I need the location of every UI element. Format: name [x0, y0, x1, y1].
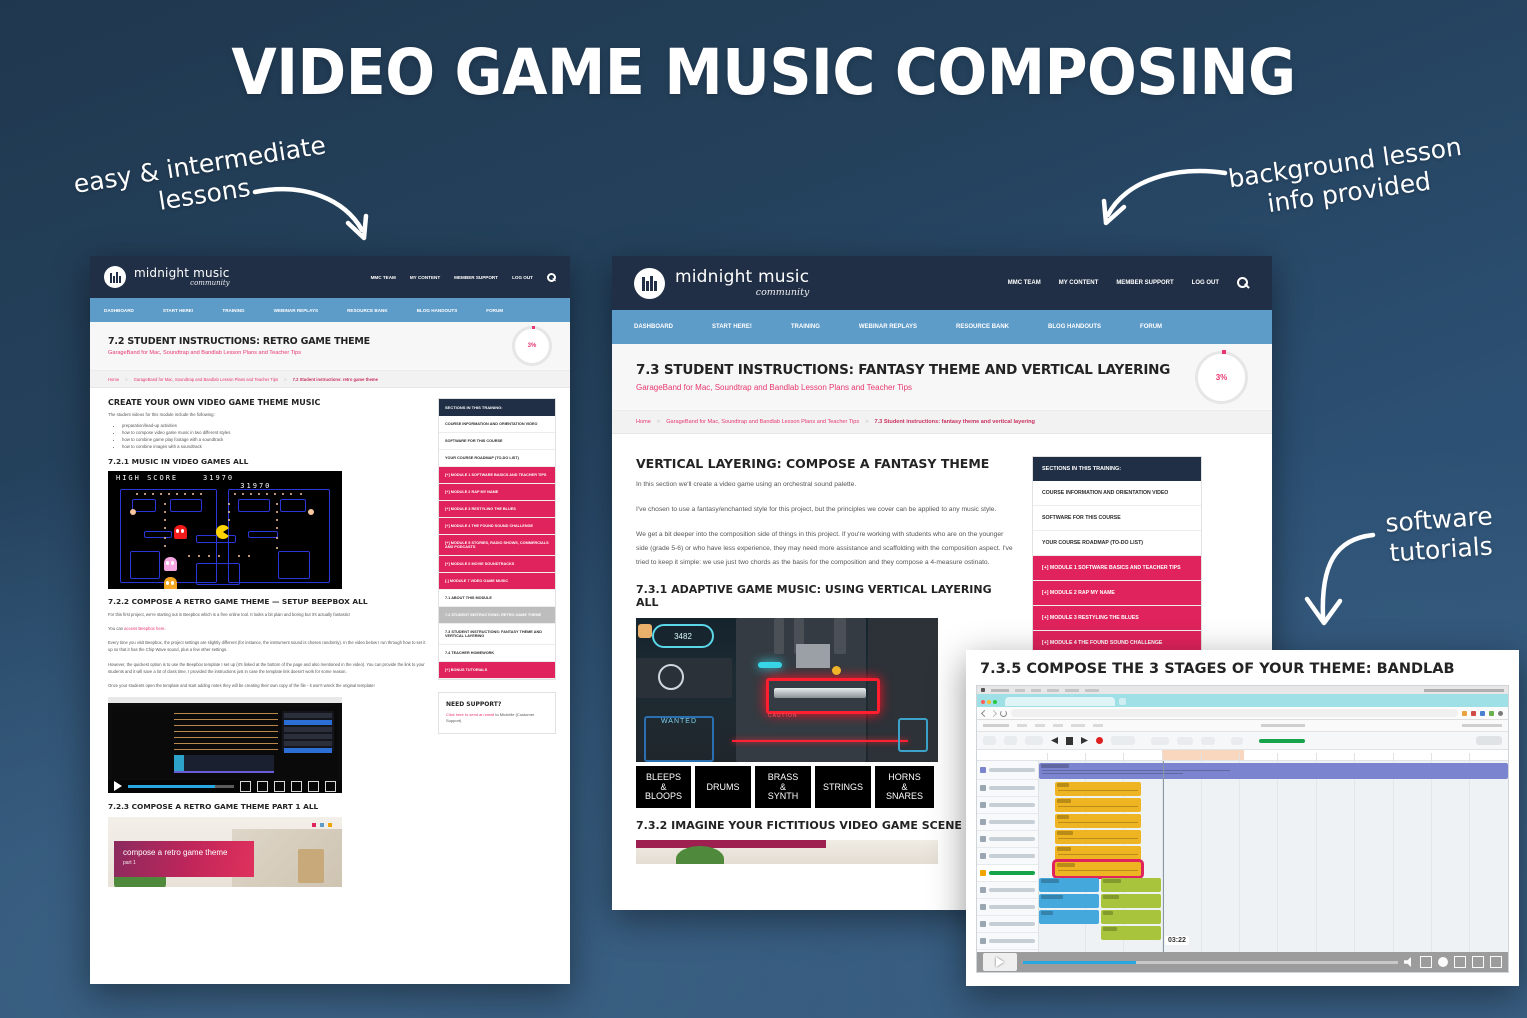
- search-icon[interactable]: [547, 273, 556, 282]
- os-menu-edit: [1031, 689, 1041, 692]
- left-para-2-post: .: [164, 626, 165, 631]
- left-para-5: Once your students open the template and…: [108, 682, 426, 689]
- arrow-background-info-icon: [1090, 163, 1230, 243]
- pacman-screenshot-image: HIGH SCORE 31970 31970: [108, 471, 342, 589]
- os-menu-file: [1015, 689, 1025, 692]
- settings-icon[interactable]: [274, 781, 285, 792]
- back-icon[interactable]: [981, 709, 988, 716]
- topnav-item-log-out[interactable]: LOG OUT: [1192, 280, 1219, 286]
- video-scrubber[interactable]: [128, 785, 234, 788]
- sidebar-item-module-1[interactable]: [+] MODULE 1 SOFTWARE BASICS AND TEACHER…: [439, 467, 555, 484]
- instrument-label-row: BLEEPS & BLOOPS DRUMS BRASS & SYNTH STRI…: [636, 766, 938, 808]
- game-grate-icon: [796, 644, 830, 668]
- menu-edit[interactable]: [1035, 724, 1045, 727]
- beepbox-editor-area: [112, 707, 338, 779]
- master-meter: [1259, 739, 1305, 743]
- skip-back-icon[interactable]: [1051, 737, 1058, 744]
- menu-help[interactable]: [1093, 724, 1103, 727]
- clip-blue-2[interactable]: [1039, 894, 1099, 908]
- pip-icon[interactable]: [308, 781, 319, 792]
- transport-bar[interactable]: [977, 732, 1508, 750]
- timeline-ruler[interactable]: [977, 750, 1508, 761]
- volume-icon[interactable]: [1404, 957, 1414, 967]
- logo-name: midnight music: [675, 269, 809, 286]
- left-intro-text: The student videos for this module inclu…: [108, 412, 426, 417]
- top-nav-right: MMC TEAM MY CONTENT MEMBER SUPPORT LOG O…: [1008, 277, 1250, 290]
- track-header-list[interactable]: [977, 761, 1039, 959]
- game-avatar-icon: [638, 624, 652, 638]
- clip-yellow-1[interactable]: [1055, 782, 1141, 796]
- project-name-field[interactable]: [1261, 724, 1305, 727]
- forward-icon[interactable]: [990, 709, 997, 716]
- sidebar-item-module-7[interactable]: [-] MODULE 7 VIDEO GAME MUSIC: [439, 573, 555, 590]
- site-header-right: midnight music community MMC TEAM MY CON…: [612, 256, 1272, 310]
- progress-percent-right: 3%: [1216, 373, 1228, 382]
- pacman-maze: [108, 485, 342, 589]
- nav-item-training[interactable]: TRAINING: [791, 324, 820, 330]
- settings-icon[interactable]: [1438, 957, 1448, 967]
- left-para-4: However, the quickest option is to use t…: [108, 661, 426, 675]
- browser-tab-bandlab[interactable]: [1005, 697, 1115, 706]
- track-row[interactable]: [977, 761, 1038, 780]
- fullscreen-icon[interactable]: [325, 781, 336, 792]
- tempo-field[interactable]: [1151, 737, 1169, 745]
- sidebar-item-module-3[interactable]: [+] MODULE 3 RESTYLING THE BLUES: [1033, 606, 1201, 631]
- nav-item-dashboard[interactable]: DASHBOARD: [104, 308, 134, 313]
- nav-item-start-here[interactable]: START HERE!: [163, 308, 194, 313]
- progress-percent-left: 3%: [528, 343, 537, 349]
- clip-blue-1[interactable]: [1039, 878, 1099, 892]
- logo-mark-icon: [104, 266, 126, 288]
- os-menu-history: [1065, 689, 1079, 692]
- ghost-orange-icon: [164, 577, 177, 589]
- clip-green-1[interactable]: [1101, 878, 1161, 892]
- game-wanted-label: WANTED: [661, 718, 697, 725]
- play-icon[interactable]: [1081, 737, 1088, 744]
- right-heading-vertical-layering: VERTICAL LAYERING: COMPOSE A FANTASY THE…: [636, 456, 1014, 471]
- pacman-score-1: 31970: [203, 474, 234, 482]
- apple-menu-icon[interactable]: [981, 688, 985, 692]
- url-field[interactable]: [1011, 709, 1458, 717]
- need-support-box: NEED SUPPORT? Click here to send an emai…: [438, 692, 556, 734]
- topnav-item-mmc-team[interactable]: MMC TEAM: [371, 275, 396, 280]
- menu-view[interactable]: [1053, 724, 1063, 727]
- left-para-2-pre: You can: [108, 626, 124, 631]
- sidebar-item-software[interactable]: SOFTWARE FOR THIS COURSE: [1033, 506, 1201, 531]
- sections-heading-left: SECTIONS IN THIS TRAINING:: [439, 399, 555, 416]
- sidebar-item-7-4[interactable]: 7.4 TEACHER HOMEWORK: [439, 645, 555, 662]
- redo-button[interactable]: [1004, 736, 1017, 745]
- lesson-title-right: 7.3 STUDENT INSTRUCTIONS: FANTASY THEME …: [636, 362, 1170, 378]
- search-icon[interactable]: [1237, 277, 1250, 290]
- ghost-red-icon: [174, 525, 187, 539]
- sections-heading-right: SECTIONS IN THIS TRAINING:: [1033, 457, 1201, 481]
- fullscreen-icon[interactable]: [1490, 956, 1502, 968]
- reload-icon[interactable]: [1000, 710, 1007, 717]
- annotation-software-tutorials: software tutorials: [1358, 499, 1522, 569]
- sidebar-item-module-2[interactable]: [+] MODULE 2 RAP MY NAME: [1033, 581, 1201, 606]
- left-para-2: You can access Beepbox here.: [108, 625, 426, 632]
- topnav-item-member-support[interactable]: MEMBER SUPPORT: [1116, 280, 1173, 286]
- right-heading-731: 7.3.1 ADAPTIVE GAME MUSIC: USING VERTICA…: [636, 583, 1014, 609]
- captions-icon[interactable]: [1420, 956, 1432, 968]
- lesson-main-left: CREATE YOUR OWN VIDEO GAME THEME MUSIC T…: [108, 398, 426, 887]
- top-nav-left: MMC TEAM MY CONTENT MEMBER SUPPORT LOG O…: [371, 273, 556, 282]
- support-text: Click here to send an email to Michelle …: [446, 712, 548, 725]
- logo-wordmark: midnight music community: [675, 269, 809, 298]
- site-header-left: midnight music community MMC TEAM MY CON…: [90, 256, 570, 298]
- sidebar-item-bonus[interactable]: [+] BONUS TUTORIALS: [439, 662, 555, 679]
- video-scrubber[interactable]: [1023, 961, 1398, 964]
- slide-canvas: VIDEO GAME MUSIC COMPOSING easy & interm…: [0, 0, 1527, 1018]
- track-row[interactable]: [977, 831, 1038, 848]
- thumbnail-dots: [312, 823, 332, 827]
- time-display[interactable]: [1111, 736, 1135, 745]
- lesson-main-right: VERTICAL LAYERING: COMPOSE A FANTASY THE…: [636, 456, 1014, 864]
- record-icon[interactable]: [1096, 737, 1103, 744]
- topnav-item-my-content[interactable]: MY CONTENT: [1059, 280, 1099, 286]
- arrangement-area[interactable]: 03:22: [977, 761, 1508, 959]
- lesson-sidebar-left: SECTIONS IN THIS TRAINING: COURSE INFORM…: [438, 398, 556, 887]
- beepbox-video-player[interactable]: [108, 697, 342, 793]
- game-hud-value: 3482: [674, 632, 692, 641]
- clip-yellow-selected[interactable]: [1055, 862, 1141, 876]
- logo-subtitle: community: [134, 280, 230, 287]
- quality-icon[interactable]: [1454, 956, 1466, 968]
- lesson-subtitle-left: GarageBand for Mac, Soundtrap and Bandla…: [108, 350, 370, 356]
- nav-item-training[interactable]: TRAINING: [222, 308, 244, 313]
- track-row-selected[interactable]: [977, 865, 1038, 882]
- lesson-titlebar-left: 7.2 STUDENT INSTRUCTIONS: RETRO GAME THE…: [90, 322, 570, 371]
- list-item: how to combine images with a soundtrack: [122, 444, 426, 449]
- breadcrumb-sep-icon: >: [657, 419, 660, 425]
- video-player-controls[interactable]: [977, 952, 1508, 972]
- screenshot-bandlab-tutorial[interactable]: 7.3.5 COMPOSE THE 3 STAGES OF YOUR THEME…: [966, 650, 1519, 986]
- sidebar-item-module-1[interactable]: [+] MODULE 1 SOFTWARE BASICS AND TEACHER…: [1033, 556, 1201, 581]
- clip-green-3[interactable]: [1101, 910, 1161, 924]
- nav-item-webinar-replays[interactable]: WEBINAR REPLAYS: [859, 324, 917, 330]
- sidebar-item-module-2[interactable]: [+] MODULE 2 RAP MY NAME: [439, 484, 555, 501]
- progress-ring-right: 3%: [1195, 351, 1248, 404]
- extension-icon[interactable]: [1480, 711, 1485, 716]
- right-lower-media-placeholder: [636, 840, 938, 864]
- breadcrumb-sep-icon: >: [125, 377, 127, 382]
- list-item: how to combine game play footage with a …: [122, 437, 426, 442]
- track-row[interactable]: [977, 780, 1038, 797]
- clip-yellow-2[interactable]: [1055, 798, 1141, 812]
- save-status: [1462, 724, 1502, 727]
- list-item: preparation/lead-up activities: [122, 423, 426, 428]
- bandlab-menu-bar[interactable]: [977, 720, 1508, 732]
- nav-item-webinar-replays[interactable]: WEBINAR REPLAYS: [274, 308, 319, 313]
- beepbox-settings-panel: [282, 711, 334, 751]
- left-heading-723: 7.2.3 COMPOSE A RETRO GAME THEME PART 1 …: [108, 802, 426, 811]
- breadcrumb-current-right: 7.3 Student instructions: fantasy theme …: [875, 419, 1035, 425]
- annotation-background-info: background lesson info provided: [1209, 129, 1485, 225]
- breadcrumb-sep-icon: >: [284, 377, 286, 382]
- main-nav-left: DASHBOARD START HERE! TRAINING WEBINAR R…: [90, 298, 570, 322]
- thumbnail-part: part 1: [123, 860, 245, 866]
- lesson-title-left: 7.2 STUDENT INSTRUCTIONS: RETRO GAME THE…: [108, 336, 370, 347]
- bandlab-logo[interactable]: [983, 724, 1009, 727]
- sidebar-item-7-2-active[interactable]: 7.2 STUDENT INSTRUCTIONS: RETRO GAME THE…: [439, 607, 555, 624]
- site-logo-right[interactable]: midnight music community: [634, 268, 809, 299]
- sidebar-item-roadmap[interactable]: YOUR COURSE ROADMAP (TO-DO LIST): [439, 450, 555, 467]
- topnav-item-my-content[interactable]: MY CONTENT: [410, 275, 440, 280]
- instrument-label-strings: STRINGS: [815, 766, 871, 808]
- game-hud-score: 3482: [652, 624, 714, 648]
- clip-yellow-3[interactable]: [1055, 814, 1141, 828]
- breadcrumb-parent-left[interactable]: GarageBand for Mac, Soundtrap and Bandla…: [134, 377, 279, 382]
- support-email-link[interactable]: Click here to send an email: [446, 712, 494, 717]
- left-heading-722: 7.2.2 COMPOSE A RETRO GAME THEME — SETUP…: [108, 597, 426, 606]
- site-logo-left[interactable]: midnight music community: [104, 266, 230, 288]
- lesson-subtitle-right: GarageBand for Mac, Soundtrap and Bandla…: [636, 383, 1170, 392]
- instrument-label-brass: BRASS & SYNTH: [755, 766, 811, 808]
- game-panel-icon: [898, 718, 928, 752]
- video-controls-bar[interactable]: [108, 780, 342, 793]
- left-para-1: For this first project, we're starting o…: [108, 611, 426, 618]
- track-row[interactable]: [977, 797, 1038, 814]
- right-para-1: In this section we'll create a video gam…: [636, 478, 1014, 492]
- track-row[interactable]: [977, 814, 1038, 831]
- left-para-3: Every time you visit Beepbox, the projec…: [108, 639, 426, 653]
- video-game-scene-image: 3482 CAUTION WANTED: [636, 618, 938, 762]
- game-caution-label: CAUTION: [768, 713, 798, 719]
- pacman-high-score-label: HIGH SCORE: [116, 474, 178, 482]
- left-bullet-list: preparation/lead-up activities how to co…: [108, 423, 426, 449]
- annotation-easy-lessons: easy & intermediate lessons: [59, 128, 345, 230]
- os-menu-bookmarks: [1085, 689, 1099, 692]
- os-menu-chrome: [991, 689, 1009, 692]
- video-time-tooltip: 03:22: [1165, 936, 1189, 945]
- nav-item-forum[interactable]: FORUM: [486, 308, 503, 313]
- screenshot-left-lesson-page[interactable]: midnight music community MMC TEAM MY CON…: [90, 256, 570, 984]
- topnav-item-mmc-team[interactable]: MMC TEAM: [1008, 280, 1041, 286]
- logo-subtitle: community: [675, 288, 809, 298]
- new-tab-icon[interactable]: [1119, 698, 1126, 705]
- menu-file[interactable]: [1017, 724, 1027, 727]
- clip-green-2[interactable]: [1101, 894, 1161, 908]
- breadcrumb-home-right[interactable]: Home: [636, 419, 651, 425]
- breadcrumb-left: Home > GarageBand for Mac, Soundtrap and…: [90, 371, 570, 388]
- clip-yellow-4[interactable]: [1055, 830, 1141, 844]
- clip-blue-3[interactable]: [1039, 910, 1099, 924]
- pip-icon[interactable]: [1472, 956, 1484, 968]
- extension-icon[interactable]: [1462, 711, 1467, 716]
- nav-item-resource-bank[interactable]: RESOURCE BANK: [956, 324, 1009, 330]
- nav-item-resource-bank[interactable]: RESOURCE BANK: [347, 308, 388, 313]
- key-field[interactable]: [1177, 737, 1193, 745]
- share-button[interactable]: [1476, 736, 1502, 745]
- sections-box-left: SECTIONS IN THIS TRAINING: COURSE INFORM…: [438, 398, 556, 680]
- instrument-label-bleeps: BLEEPS & BLOOPS: [636, 766, 691, 808]
- nav-item-start-here[interactable]: START HERE!: [712, 324, 752, 330]
- instrument-label-horns: HORNS & SNARES: [875, 766, 934, 808]
- breadcrumb-right: Home > GarageBand for Mac, Soundtrap and…: [612, 411, 1272, 434]
- sidebar-item-7-1[interactable]: 7.1 ABOUT THIS MODULE: [439, 590, 555, 607]
- thumbnail-title: compose a retro game theme: [123, 848, 245, 857]
- right-heading-732: 7.3.2 IMAGINE YOUR FICTITIOUS VIDEO GAME…: [636, 819, 1014, 832]
- metronome-icon[interactable]: [1231, 737, 1243, 745]
- beepbox-track-lanes: [174, 711, 278, 745]
- lesson-body-left: CREATE YOUR OWN VIDEO GAME THEME MUSIC T…: [90, 388, 570, 887]
- volume-icon[interactable]: [240, 781, 251, 792]
- nav-item-dashboard[interactable]: DASHBOARD: [634, 324, 673, 330]
- left-heading-create: CREATE YOUR OWN VIDEO GAME THEME MUSIC: [108, 398, 426, 407]
- beepbox-link[interactable]: access Beepbox here: [124, 626, 164, 631]
- sidebar-item-module-6[interactable]: [+] MODULE 6 MOVIE SOUNDTRACKS: [439, 556, 555, 573]
- play-button[interactable]: [983, 953, 1017, 971]
- quality-icon[interactable]: [291, 781, 302, 792]
- clip-yellow-5[interactable]: [1055, 846, 1141, 860]
- compose-theme-thumbnail[interactable]: compose a retro game theme part 1: [108, 817, 342, 887]
- track-row[interactable]: [977, 933, 1038, 950]
- clip-green-4[interactable]: [1101, 926, 1161, 940]
- sidebar-item-module-3[interactable]: [+] MODULE 3 RESTYLING THE BLUES: [439, 501, 555, 518]
- breadcrumb-parent-right[interactable]: GarageBand for Mac, Soundtrap and Bandla…: [666, 419, 859, 425]
- os-menu-bar: [977, 686, 1508, 694]
- sidebar-item-course-info[interactable]: COURSE INFORMATION AND ORIENTATION VIDEO: [439, 416, 555, 433]
- clip-master-purple[interactable]: [1039, 763, 1508, 779]
- sidebar-item-roadmap[interactable]: YOUR COURSE ROADMAP (TO-DO LIST): [1033, 531, 1201, 556]
- track-row[interactable]: [977, 899, 1038, 916]
- logo-wordmark: midnight music community: [134, 267, 230, 287]
- sidebar-item-module-4[interactable]: [+] MODULE 4 THE FOUND SOUND CHALLENGE: [439, 518, 555, 535]
- track-row[interactable]: [977, 916, 1038, 933]
- sidebar-item-course-info[interactable]: COURSE INFORMATION AND ORIENTATION VIDEO: [1033, 481, 1201, 506]
- logo-mark-icon: [634, 268, 665, 299]
- mixer-button[interactable]: [1025, 736, 1043, 745]
- sidebar-item-7-3[interactable]: 7.3 STUDENT INSTRUCTIONS: FANTASY THEME …: [439, 624, 555, 645]
- window-controls[interactable]: [981, 700, 997, 704]
- right-para-3: We get a bit deeper into the composition…: [636, 528, 1014, 570]
- breadcrumb-sep-icon: >: [865, 419, 868, 425]
- os-menu-view: [1047, 689, 1059, 692]
- browser-url-bar[interactable]: [977, 707, 1508, 720]
- playhead[interactable]: [1163, 761, 1164, 959]
- loop-region[interactable]: [1162, 750, 1244, 760]
- pause-icon[interactable]: [1066, 737, 1073, 745]
- thumbnail-title-band: compose a retro game theme part 1: [114, 841, 254, 877]
- sidebar-item-software[interactable]: SOFTWARE FOR THIS COURSE: [439, 433, 555, 450]
- game-wanted-poster: WANTED: [644, 716, 714, 762]
- track-row[interactable]: [977, 848, 1038, 865]
- support-heading: NEED SUPPORT?: [446, 701, 548, 708]
- breadcrumb-current-left: 7.2 Student instructions: retro game the…: [293, 377, 378, 382]
- os-status-icons: [1424, 689, 1504, 692]
- undo-button[interactable]: [983, 736, 996, 745]
- list-item: how to compose video game music in two d…: [122, 430, 426, 435]
- logo-piano-bars-icon: [110, 272, 121, 283]
- nav-item-blog-handouts[interactable]: BLOG HANDOUTS: [1048, 324, 1101, 330]
- beepbox-pattern-grid: [174, 755, 274, 773]
- extension-icon[interactable]: [1489, 711, 1494, 716]
- play-icon[interactable]: [114, 781, 122, 791]
- bandlab-browser-window[interactable]: 03:22: [976, 685, 1509, 973]
- nav-item-blog-handouts[interactable]: BLOG HANDOUTS: [417, 308, 458, 313]
- daw-title: 7.3.5 COMPOSE THE 3 STAGES OF YOUR THEME…: [966, 650, 1519, 685]
- left-heading-721: 7.2.1 MUSIC IN VIDEO GAMES ALL: [108, 457, 426, 466]
- instrument-label-drums: DRUMS: [695, 766, 751, 808]
- profile-avatar[interactable]: [1498, 711, 1503, 716]
- lesson-titlebar-right: 7.3 STUDENT INSTRUCTIONS: FANTASY THEME …: [612, 344, 1272, 411]
- video-browser-chrome: [108, 697, 342, 703]
- browser-tab-bar[interactable]: [977, 694, 1508, 707]
- sidebar-item-module-5[interactable]: [+] MODULE 5 STORIES, RADIO SHOWS, COMME…: [439, 535, 555, 556]
- ghost-pink-icon: [164, 557, 177, 571]
- extension-icon[interactable]: [1471, 711, 1476, 716]
- topnav-item-member-support[interactable]: MEMBER SUPPORT: [454, 275, 498, 280]
- progress-ring-left: 3%: [512, 326, 552, 366]
- time-signature-field[interactable]: [1201, 737, 1215, 745]
- topnav-item-log-out[interactable]: LOG OUT: [512, 275, 533, 280]
- nav-item-forum[interactable]: FORUM: [1140, 324, 1162, 330]
- captions-icon[interactable]: [257, 781, 268, 792]
- main-nav-right: DASHBOARD START HERE! TRAINING WEBINAR R…: [612, 310, 1272, 344]
- page-title: VIDEO GAME MUSIC COMPOSING: [53, 36, 1473, 109]
- menu-settings[interactable]: [1071, 724, 1085, 727]
- breadcrumb-home-left[interactable]: Home: [108, 377, 119, 382]
- logo-name: midnight music: [134, 267, 230, 279]
- right-para-2: I've chosen to use a fantasy/enchanted s…: [636, 503, 1014, 517]
- track-row[interactable]: [977, 882, 1038, 899]
- logo-piano-bars-icon: [642, 276, 657, 291]
